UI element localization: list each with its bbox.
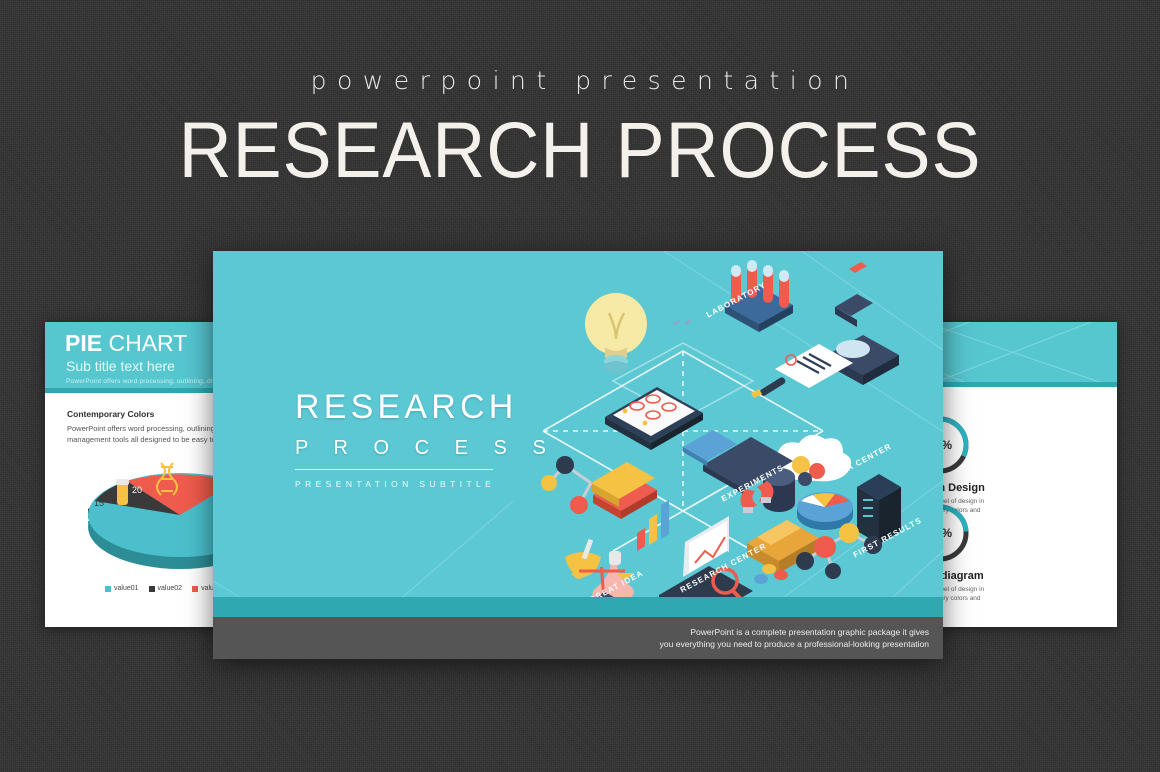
pen-icon	[751, 376, 786, 398]
page-header: powerpoint presentation RESEARCH PROCESS	[0, 0, 1160, 191]
legend-label-1: value02	[158, 585, 183, 592]
books-icon	[591, 462, 657, 519]
slide-main-research-process[interactable]: GREAT IDEA LABORATORY EXPERIMENTS DATA C…	[213, 251, 943, 659]
main-slide-footer: PowerPoint is a complete presentation gr…	[213, 617, 943, 659]
legend-swatch-2	[192, 586, 198, 592]
pie-slide-subtitle: Sub title text here	[66, 358, 175, 374]
main-slide-title-line2: P R O C E S S	[295, 437, 556, 460]
legend-swatch-0	[105, 586, 111, 592]
test-tube-prop	[116, 479, 129, 505]
legend-label-0: value01	[114, 585, 139, 592]
legend-item-0: value01	[105, 585, 139, 592]
legend-item-1: value02	[149, 585, 183, 592]
pie-label-15: 15	[94, 498, 104, 508]
footer-line-2: you everything you need to produce a pro…	[660, 639, 929, 649]
main-slide-footer-text: PowerPoint is a complete presentation gr…	[660, 626, 929, 650]
pie-label-20: 20	[132, 485, 142, 495]
main-slide-canvas: GREAT IDEA LABORATORY EXPERIMENTS DATA C…	[213, 251, 943, 659]
pie-section-heading: Contemporary Colors	[67, 409, 154, 419]
pie-title-bold: PIE	[65, 330, 102, 356]
main-slide-title-line1: RESEARCH	[295, 388, 556, 427]
main-slide-title-block: RESEARCH P R O C E S S PRESENTATION SUBT…	[295, 388, 556, 489]
header-eyebrow: powerpoint presentation	[0, 66, 1160, 95]
page-title: RESEARCH PROCESS	[41, 109, 1120, 191]
pie-slide-title: PIE CHART	[65, 330, 187, 357]
microscope-icon	[835, 251, 873, 327]
petri-plate-icon	[605, 387, 703, 450]
main-slide-subtitle: PRESENTATION SUBTITLE	[295, 479, 556, 489]
main-slide-accent-band	[213, 597, 943, 617]
pie-title-rest: CHART	[102, 330, 187, 356]
pie-chart-legend: value01 value02 value03	[105, 585, 226, 592]
lightbulb-icon	[585, 293, 647, 373]
footer-line-1: PowerPoint is a complete presentation gr…	[690, 627, 929, 637]
main-slide-divider	[295, 469, 493, 470]
legend-swatch-1	[149, 586, 155, 592]
bar-chart-icon	[637, 500, 669, 551]
